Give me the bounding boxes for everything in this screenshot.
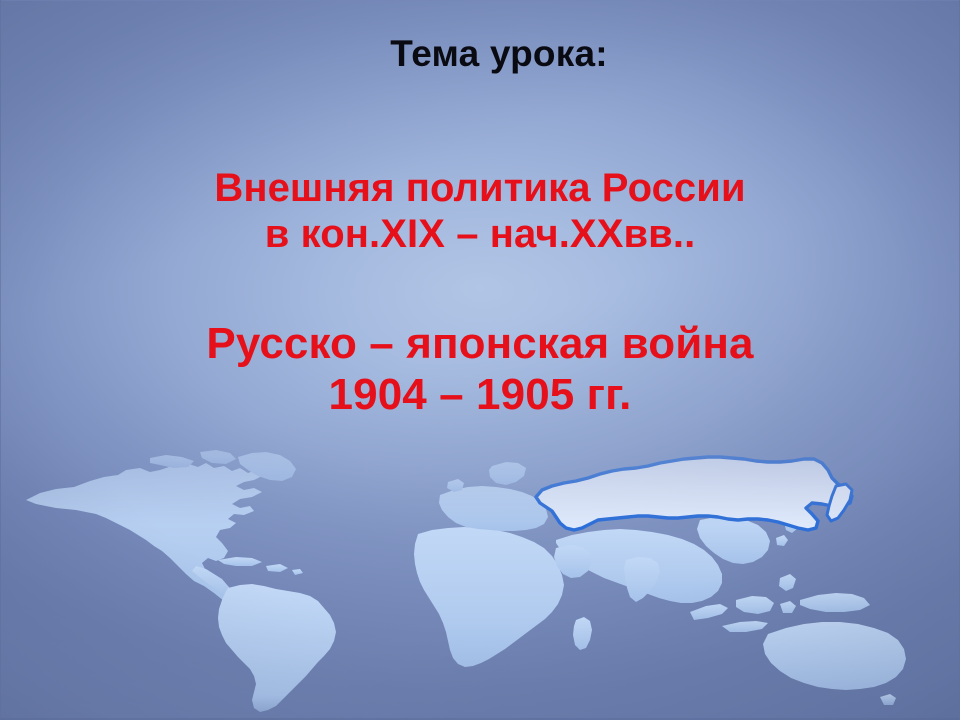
slide-text-layer: Тема урока: Внешняя политика России в ко…	[0, 0, 960, 720]
headline-primary: Внешняя политика России в кон.XIX – нач.…	[0, 165, 960, 258]
presentation-slide: Тема урока: Внешняя политика России в ко…	[0, 0, 960, 720]
headline-secondary: Русско – японская война 1904 – 1905 гг.	[0, 318, 960, 420]
headline-primary-line-2: в кон.XIX – нач.XXвв..	[0, 211, 960, 257]
headline-secondary-line-1: Русско – японская война	[0, 318, 960, 369]
headline-primary-line-1: Внешняя политика России	[0, 165, 960, 211]
page-title: Тема урока:	[0, 33, 960, 74]
headline-secondary-line-2: 1904 – 1905 гг.	[0, 369, 960, 420]
